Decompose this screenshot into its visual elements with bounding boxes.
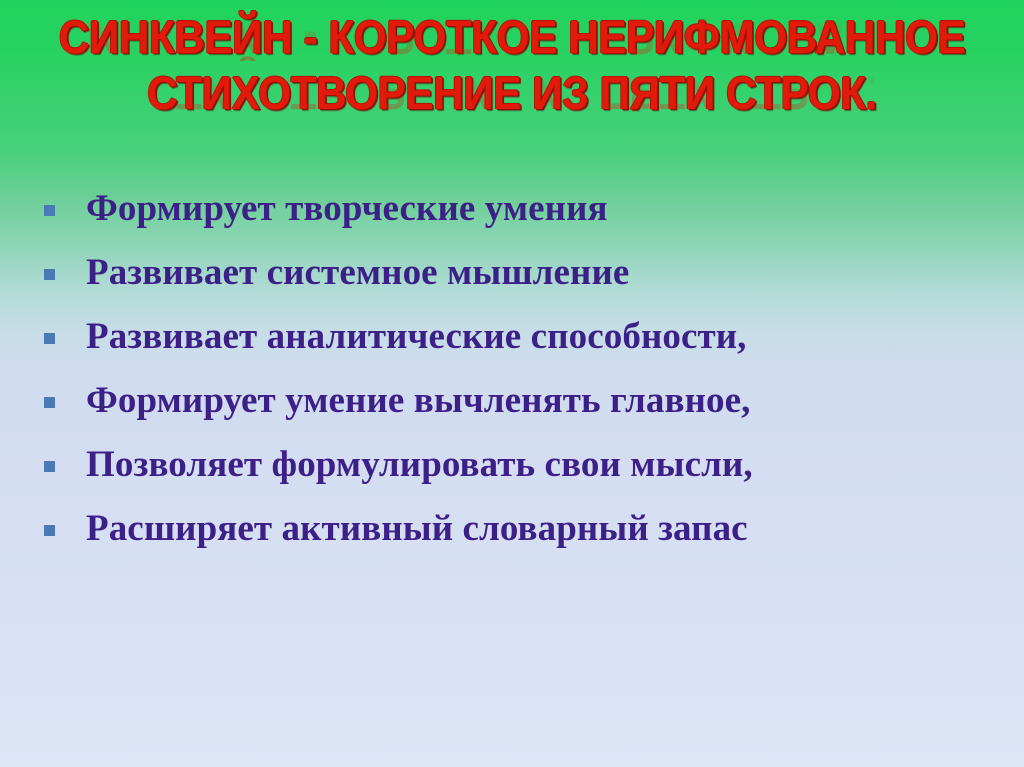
- square-bullet-icon: [44, 269, 55, 280]
- title-line-1-wrapper: СИНКВЕЙН - КОРОТКОЕ НЕРИФМОВАННОЕ СИНКВЕ…: [0, 14, 1024, 70]
- presentation-slide: СИНКВЕЙН - КОРОТКОЕ НЕРИФМОВАННОЕ СИНКВЕ…: [0, 0, 1024, 767]
- list-item-label: Формирует умение вычленять главное,: [86, 370, 1006, 432]
- square-bullet-icon: [44, 397, 55, 408]
- list-item: Развивает аналитические способности,: [36, 306, 1006, 368]
- list-item-label: Развивает системное мышление: [86, 242, 1006, 304]
- list-item-label: Формирует творческие умения: [86, 178, 1006, 240]
- list-item: Формирует творческие умения: [36, 178, 1006, 240]
- square-bullet-icon: [44, 461, 55, 472]
- square-bullet-icon: [44, 205, 55, 216]
- benefits-bullet-list: Формирует творческие умения Развивает си…: [36, 178, 1006, 562]
- list-item-label: Развивает аналитические способности,: [86, 306, 1006, 368]
- square-bullet-icon: [44, 525, 55, 536]
- list-item: Позволяет формулировать свои мысли,: [36, 434, 1006, 496]
- list-item: Расширяет активный словарный запас: [36, 498, 1006, 560]
- title-line-2-wrapper: СТИХОТВОРЕНИЕ ИЗ ПЯТИ СТРОК. СТИХОТВОРЕН…: [0, 70, 1024, 126]
- slide-title: СИНКВЕЙН - КОРОТКОЕ НЕРИФМОВАННОЕ СИНКВЕ…: [0, 14, 1024, 126]
- title-line-2: СТИХОТВОРЕНИЕ ИЗ ПЯТИ СТРОК.: [41, 70, 983, 116]
- title-line-1: СИНКВЕЙН - КОРОТКОЕ НЕРИФМОВАННОЕ: [41, 14, 983, 60]
- square-bullet-icon: [44, 333, 55, 344]
- list-item-label: Расширяет активный словарный запас: [86, 498, 1006, 560]
- list-item: Развивает системное мышление: [36, 242, 1006, 304]
- list-item: Формирует умение вычленять главное,: [36, 370, 1006, 432]
- list-item-label: Позволяет формулировать свои мысли,: [86, 434, 1006, 496]
